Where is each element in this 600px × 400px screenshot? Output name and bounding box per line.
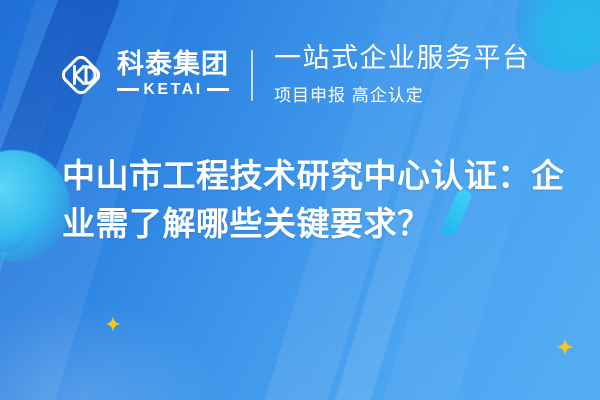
header-divider (251, 50, 253, 101)
wordmark-dash-left (117, 88, 139, 91)
header-tagline: 一站式企业服务平台 项目申报 高企认定 (274, 44, 531, 106)
wordmark-dash-right (207, 88, 229, 91)
tagline-main: 一站式企业服务平台 (274, 44, 531, 74)
sparkle-star-right (556, 338, 574, 356)
page-title: 中山市工程技术研究中心认证：企业需了解哪些关键要求？ (62, 152, 578, 248)
brand-name-en-row: KETAI (117, 81, 229, 99)
sparkle-star-left (105, 316, 121, 332)
brand-logo[interactable]: 科泰集团 KETAI (54, 48, 229, 102)
article-cover-banner: 科泰集团 KETAI 一站式企业服务平台 项目申报 高企认定 中山市工程技术研究… (0, 0, 600, 400)
brand-name-cn: 科泰集团 (117, 51, 229, 79)
ketai-diamond-kd-mark-icon (54, 48, 108, 102)
banner-header: 科泰集团 KETAI 一站式企业服务平台 项目申报 高企认定 (0, 0, 600, 150)
tagline-sub: 项目申报 高企认定 (274, 81, 531, 106)
brand-name-en: KETAI (143, 81, 202, 99)
brand-wordmark: 科泰集团 KETAI (117, 51, 229, 99)
cyan-circle-left (0, 150, 70, 262)
white-haze-bottom-left (0, 300, 220, 400)
